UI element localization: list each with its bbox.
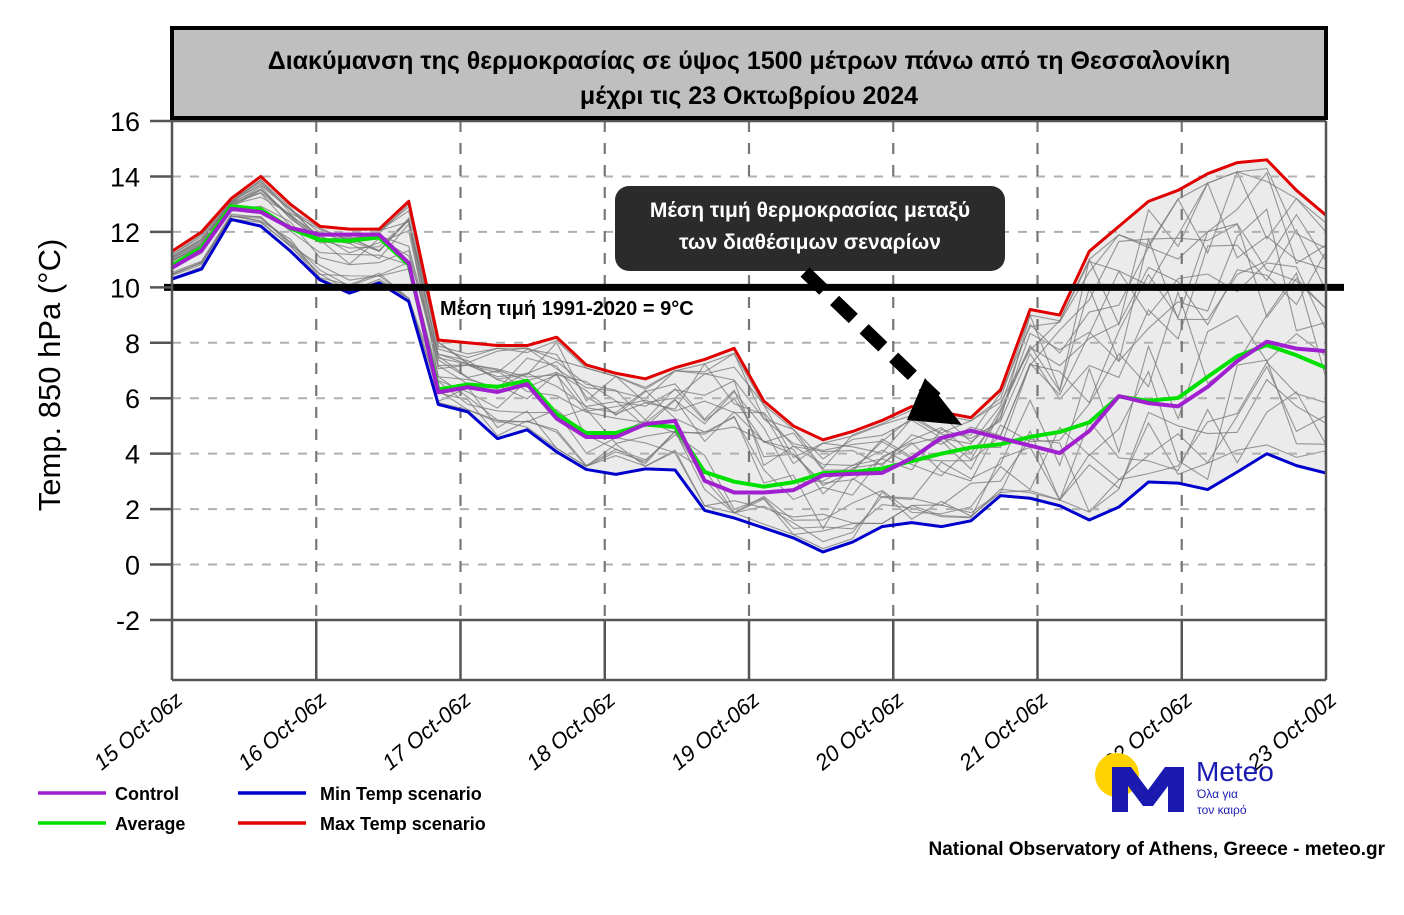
legend-label: Average bbox=[115, 814, 185, 834]
x-tick-label: 16 Oct-06z bbox=[233, 687, 332, 775]
y-axis-ticks: -20246810121416 bbox=[110, 107, 172, 636]
y-tick-label: 10 bbox=[110, 273, 140, 303]
y-tick-label: 0 bbox=[125, 551, 140, 581]
legend-label: Control bbox=[115, 784, 179, 804]
credit-line: National Observatory of Athens, Greece -… bbox=[929, 839, 1386, 860]
y-tick-label: 2 bbox=[125, 495, 140, 525]
x-tick-label: 21 Oct-06z bbox=[953, 687, 1052, 776]
x-tick-label: 18 Oct-06z bbox=[521, 687, 620, 775]
x-axis-ticks: 15 Oct-06z16 Oct-06z17 Oct-06z18 Oct-06z… bbox=[89, 620, 1342, 776]
climatology-line-label: Μέση τιμή 1991-2020 = 9°C bbox=[440, 298, 694, 320]
x-tick-label: 20 Oct-06z bbox=[809, 687, 908, 776]
x-tick-label: 17 Oct-06z bbox=[377, 687, 476, 775]
chart-legend: ControlMin Temp scenarioAverageMax Temp … bbox=[38, 784, 486, 834]
legend-label: Min Temp scenario bbox=[320, 784, 482, 804]
legend-label: Max Temp scenario bbox=[320, 814, 486, 834]
logo-m-icon bbox=[1112, 767, 1184, 812]
y-tick-label: 8 bbox=[125, 329, 140, 359]
y-tick-label: 6 bbox=[125, 384, 140, 414]
y-tick-label: 16 bbox=[110, 107, 140, 137]
x-tick-label: 15 Oct-06z bbox=[89, 687, 188, 775]
y-tick-label: 14 bbox=[110, 162, 140, 192]
y-axis-title: Temp. 850 hPa (°C) bbox=[32, 239, 67, 512]
logo-wordmark: Meteo bbox=[1196, 756, 1274, 787]
chart-title-line2: μέχρι τις 23 Οκτωβρίου 2024 bbox=[580, 82, 918, 110]
logo-tagline-1: Όλα για bbox=[1196, 787, 1238, 801]
chart-title-line1: Διακύμανση της θερμοκρασίας σε ύψος 1500… bbox=[268, 47, 1231, 75]
x-tick-label: 19 Oct-06z bbox=[666, 687, 765, 775]
annotation-line1: Μέση τιμή θερμοκρασίας μεταξύ bbox=[650, 199, 970, 222]
y-tick-label: -2 bbox=[116, 606, 140, 636]
chart-title-box: Διακύμανση της θερμοκρασίας σε ύψος 1500… bbox=[172, 28, 1326, 118]
y-tick-label: 4 bbox=[125, 440, 140, 470]
logo-tagline-2: τον καιρό bbox=[1197, 803, 1247, 817]
meteo-logo: Meteo Όλα για τον καιρό bbox=[1095, 753, 1274, 817]
y-tick-label: 12 bbox=[110, 218, 140, 248]
average-annotation-callout: Μέση τιμή θερμοκρασίας μεταξύ των διαθέσ… bbox=[615, 186, 1005, 271]
annotation-line2: των διαθέσιμων σεναρίων bbox=[679, 231, 941, 254]
forecast-chart: -20246810121416 15 Oct-06z16 Oct-06z17 O… bbox=[0, 0, 1404, 915]
